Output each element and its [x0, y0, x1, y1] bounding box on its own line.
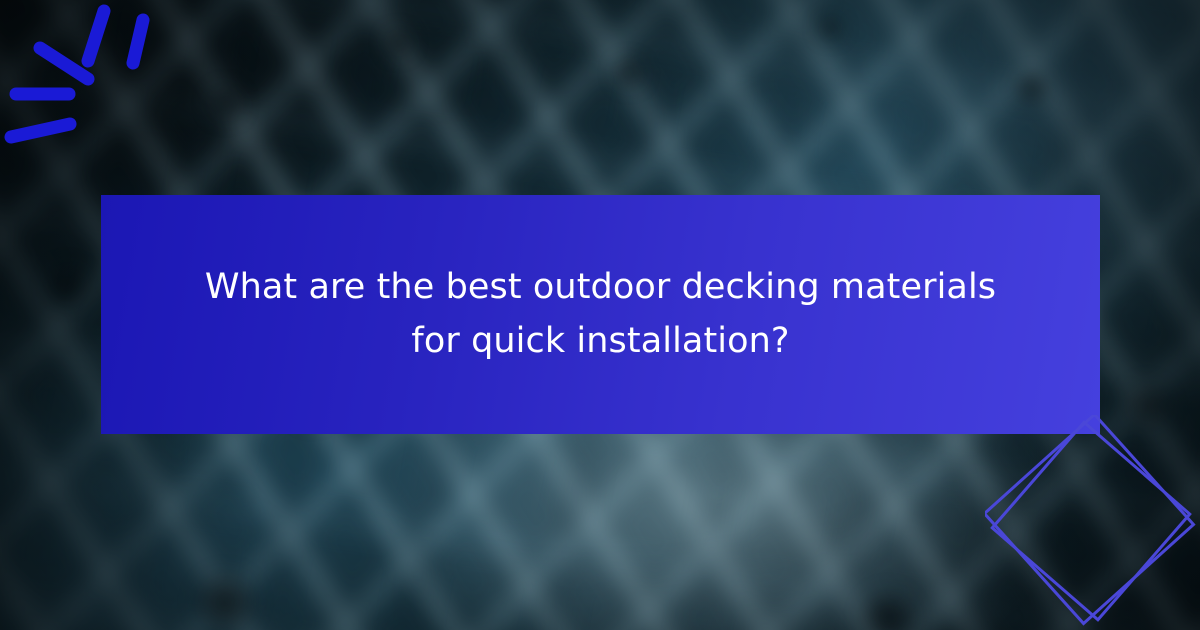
page-title: What are the best outdoor decking materi… — [191, 261, 1011, 367]
headline-banner: What are the best outdoor decking materi… — [101, 195, 1100, 434]
social-card-canvas: What are the best outdoor decking materi… — [0, 0, 1200, 630]
